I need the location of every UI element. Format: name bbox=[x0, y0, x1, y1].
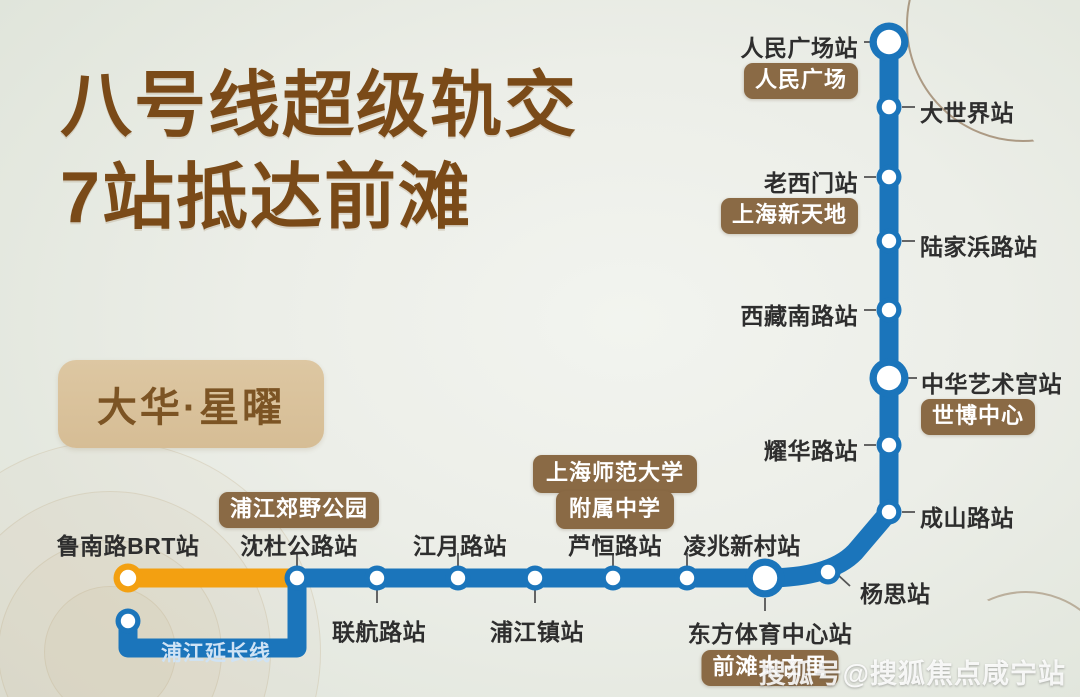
poi-badge-shishida-line1[interactable]: 上海师范大学 bbox=[533, 455, 697, 493]
station-label-lunanlu-brt[interactable]: 鲁南路BRT站 bbox=[57, 527, 200, 561]
station-dot-lujiabang[interactable] bbox=[877, 229, 902, 254]
station-dot-yaohualu[interactable] bbox=[877, 433, 902, 458]
station-dot-lingzhaoxincun[interactable] bbox=[675, 566, 700, 591]
poi-badge-shishida-line2[interactable]: 附属中学 bbox=[556, 491, 674, 529]
poi-badge-xintiandi[interactable]: 上海新天地 bbox=[721, 198, 858, 234]
station-dot-yangsi[interactable] bbox=[816, 560, 841, 585]
station-dot-dashijie[interactable] bbox=[877, 95, 902, 120]
station-dot-pujiangzhen[interactable] bbox=[523, 566, 548, 591]
station-label-xizangnanlu[interactable]: 西藏南路站 bbox=[741, 297, 859, 331]
station-dot-lunanlu-brt[interactable] bbox=[114, 564, 143, 593]
branch-line-label: 浦江延长线 bbox=[161, 637, 271, 667]
poi-badge-pujiang-park[interactable]: 浦江郊野公园 bbox=[219, 492, 379, 528]
station-label-zhonghuayishugong[interactable]: 中华艺术宫站 bbox=[921, 365, 1062, 399]
station-label-luhenglu[interactable]: 芦恒路站 bbox=[568, 527, 662, 561]
station-label-jiangyuelu[interactable]: 江月路站 bbox=[413, 527, 507, 561]
station-label-yangsi[interactable]: 杨思站 bbox=[860, 575, 931, 609]
station-label-lingzhaoxincun[interactable]: 凌兆新村站 bbox=[683, 527, 801, 561]
station-label-renmin-guangchang[interactable]: 人民广场站 bbox=[741, 29, 859, 63]
station-label-chengshanlu[interactable]: 成山路站 bbox=[920, 499, 1014, 533]
station-dot-jiangyuelu[interactable] bbox=[446, 566, 471, 591]
poi-badge-renmin-guangchang[interactable]: 人民广场 bbox=[744, 63, 858, 99]
station-dot-luhenglu[interactable] bbox=[601, 566, 626, 591]
station-label-laoximen[interactable]: 老西门站 bbox=[764, 164, 858, 198]
station-dot-renmin-guangchang[interactable] bbox=[870, 23, 909, 62]
station-label-pujiangzhen[interactable]: 浦江镇站 bbox=[490, 613, 584, 647]
station-dot-lianhanglu[interactable] bbox=[365, 566, 390, 591]
station-label-yaohualu[interactable]: 耀华路站 bbox=[764, 432, 858, 466]
station-dot-extension-terminus[interactable] bbox=[116, 609, 141, 634]
station-label-lujiabang[interactable]: 陆家浜路站 bbox=[920, 228, 1038, 262]
station-dot-zhonghuayishugong[interactable] bbox=[870, 359, 909, 398]
station-dot-laoximen[interactable] bbox=[877, 165, 902, 190]
station-dot-shendu-gonglu[interactable] bbox=[285, 566, 310, 591]
station-label-shendu-gonglu[interactable]: 沈杜公路站 bbox=[240, 527, 358, 561]
station-dot-dongfang-tiyu-zhongxin[interactable] bbox=[746, 559, 785, 598]
station-label-dashijie[interactable]: 大世界站 bbox=[920, 94, 1014, 128]
poi-badge-shibo-zhongxin[interactable]: 世博中心 bbox=[921, 399, 1035, 435]
watermark-text: 搜狐号@搜狐焦点咸宁站 bbox=[759, 652, 1066, 691]
station-label-dongfang-tiyu-zhongxin[interactable]: 东方体育中心站 bbox=[688, 615, 853, 649]
station-label-lianhanglu[interactable]: 联航路站 bbox=[332, 613, 426, 647]
infographic-canvas: 八号线超级轨交 7站抵达前滩 大华·星曜 bbox=[0, 0, 1080, 697]
station-dot-xizangnanlu[interactable] bbox=[877, 298, 902, 323]
station-dot-chengshanlu[interactable] bbox=[877, 500, 902, 525]
